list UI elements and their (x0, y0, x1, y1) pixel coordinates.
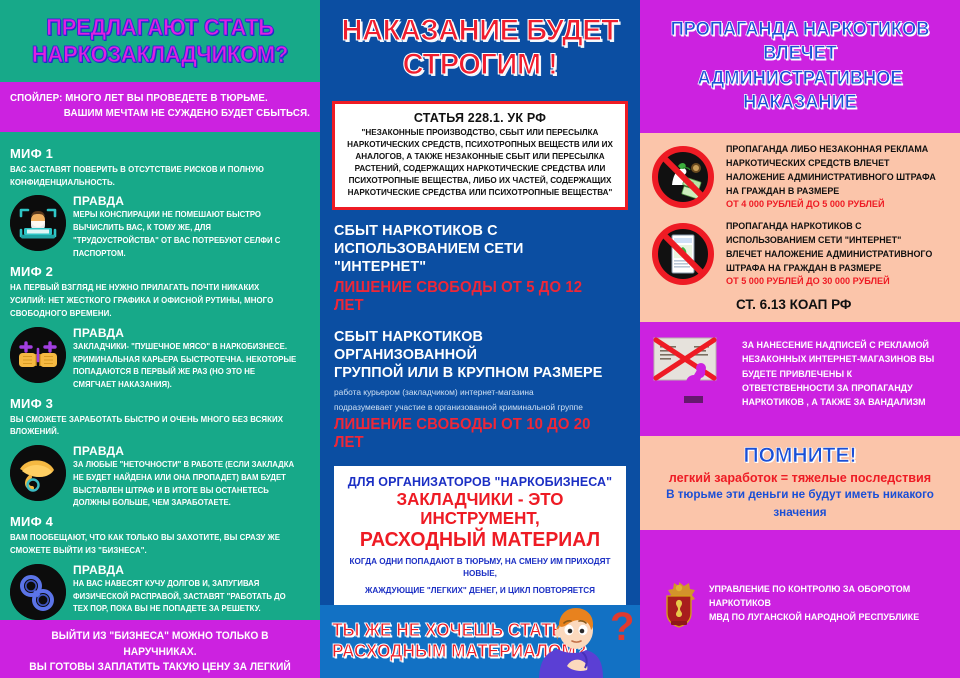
no-drug-advertising-icon (650, 144, 716, 210)
truth-label-4: ПРАВДА (73, 563, 310, 577)
admin-1-line3: НАЛОЖЕНИЕ АДМИНИСТРАТИВНОГО ШТРАФА (726, 171, 939, 185)
remember-section: ПОМНИТЕ! легкий заработок = тяжелые посл… (640, 436, 960, 530)
penalty-2-note2: подразумевает участие в организованной к… (334, 401, 626, 414)
left-footer-banner: ВЫЙТИ ИЗ "БИЗНЕСА" МОЖНО ТОЛЬКО В НАРУЧН… (0, 620, 320, 678)
myth-text-2: НА ПЕРВЫЙ ВЗГЛЯД НЕ НУЖНО ПРИЛАГАТЬ ПОЧТ… (10, 281, 295, 320)
admin-item-2: ПРОПАГАНДА НАРКОТИКОВ С ИСПОЛЬЗОВАНИЕМ С… (650, 220, 948, 287)
admin-2-line2: ИСПОЛЬЗОВАНИЕМ СЕТИ "ИНТЕРНЕТ" (726, 234, 939, 248)
right-footer-line1: УПРАВЛЕНИЕ ПО КОНТРОЛЮ ЗА ОБОРОТОМ НАРКО… (709, 583, 940, 611)
crossed-out-graffiti-icon (648, 330, 734, 430)
law-article-title: СТАТЬЯ 228.1. УК РФ (342, 111, 618, 125)
truth-row-4: ПРАВДА НА ВАС НАВЕСЯТ КУЧУ ДОЛГОВ И, ЗАП… (10, 562, 310, 620)
penalty-block-1: СБЫТ НАРКОТИКОВ С ИСПОЛЬЗОВАНИЕМ СЕТИ "И… (334, 222, 626, 315)
law-article-box: СТАТЬЯ 228.1. УК РФ "НЕЗАКОННЫЕ ПРОИЗВОД… (332, 101, 628, 210)
myth-block-2: МИФ 2 НА ПЕРВЫЙ ВЗГЛЯД НЕ НУЖНО ПРИЛАГАТ… (10, 264, 310, 391)
remember-line3: значения (655, 505, 946, 521)
organizers-box: ДЛЯ ОРГАНИЗАТОРОВ "НАРКОБИЗНЕСА" ЗАКЛАДЧ… (334, 466, 626, 605)
middle-panel: НАКАЗАНИЕ БУДЕТ СТРОГИМ ! СТАТЬЯ 228.1. … (320, 0, 640, 678)
penalty-1-line1: СБЫТ НАРКОТИКОВ С (334, 222, 614, 240)
admin-item-1: ПРОПАГАНДА ЛИБО НЕЗАКОННАЯ РЕКЛАМА НАРКО… (650, 143, 948, 210)
poster-root: ПРЕДЛАГАЮТ СТАТЬ НАРКОЗАКЛАДЧИКОМ? СПОЙЛ… (0, 0, 960, 678)
middle-heading: НАКАЗАНИЕ БУДЕТ СТРОГИМ ! (320, 0, 640, 91)
admin-2-line3: ВЛЕЧЕТ НАЛОЖЕНИЕ АДМИНИСТРАТИВНОГО (726, 248, 939, 262)
truth-row-1: ПРАВДА МЕРЫ КОНСПИРАЦИИ НЕ ПОМЕШАЮТ БЫСТ… (10, 193, 310, 260)
admin-2-line1: ПРОПАГАНДА НАРКОТИКОВ С (726, 220, 939, 234)
admin-2-line4: ШТРАФА НА ГРАЖДАН В РАЗМЕРЕ (726, 262, 939, 276)
spoiler-line1: СПОЙЛЕР: МНОГО ЛЕТ ВЫ ПРОВЕДЕТЕ В ТЮРЬМЕ… (10, 91, 289, 106)
empty-hand-coin-icon (10, 445, 66, 501)
admin-article-reference: СТ. 6.13 КОАП РФ (650, 297, 948, 312)
right-heading: ПРОПАГАНДА НАРКОТИКОВ ВЛЕЧЕТ АДМИНИСТРАТ… (640, 0, 960, 133)
truth-col-1: ПРАВДА МЕРЫ КОНСПИРАЦИИ НЕ ПОМЕШАЮТ БЫСТ… (73, 193, 310, 260)
right-heading-line3: АДМИНИСТРАТИВНОЕ (656, 67, 944, 91)
truth-text-4: НА ВАС НАВЕСЯТ КУЧУ ДОЛГОВ И, ЗАПУГИВАЯ … (73, 578, 298, 616)
penalty-block-2: СБЫТ НАРКОТИКОВ ОРГАНИЗОВАННОЙ ГРУППОЙ И… (334, 328, 626, 452)
left-heading: ПРЕДЛАГАЮТ СТАТЬ НАРКОЗАКЛАДЧИКОМ? (0, 0, 320, 82)
myth-title-2: МИФ 2 (10, 264, 310, 279)
right-panel: ПРОПАГАНДА НАРКОТИКОВ ВЛЕЧЕТ АДМИНИСТРАТ… (640, 0, 960, 678)
handcuffs-icon (10, 564, 66, 620)
admin-penalties-section: ПРОПАГАНДА ЛИБО НЕЗАКОННАЯ РЕКЛАМА НАРКО… (640, 133, 960, 322)
admin-text-2: ПРОПАГАНДА НАРКОТИКОВ С ИСПОЛЬЗОВАНИЕМ С… (726, 220, 948, 287)
thinking-boy-illustration: ? (534, 600, 634, 678)
truth-label-2: ПРАВДА (73, 326, 310, 340)
truth-text-2: ЗАКЛАДЧИКИ- "ПУШЕЧНОЕ МЯСО" В НАРКОБИЗНЕ… (73, 341, 298, 392)
right-footer-line2: МВД ПО ЛУГАНСКОЙ НАРОДНОЙ РЕСПУБЛИКЕ (709, 611, 940, 625)
right-heading-line2: ВЛЕЧЕТ (656, 42, 944, 66)
truth-label-1: ПРАВДА (73, 194, 310, 208)
myth-title-4: МИФ 4 (10, 514, 310, 529)
penalty-1-line2: ИСПОЛЬЗОВАНИЕМ СЕТИ "ИНТЕРНЕТ" (334, 240, 614, 277)
middle-heading-line1: НАКАЗАНИЕ БУДЕТ (331, 14, 630, 48)
organizers-line1: ДЛЯ ОРГАНИЗАТОРОВ "НАРКОБИЗНЕСА" (348, 474, 613, 489)
penalty-2-note1: работа курьером (закладчиком) интернет-м… (334, 386, 626, 399)
admin-2-amount: ОТ 5 000 РУБЛЕЙ ДО 30 000 РУБЛЕЙ (726, 276, 939, 287)
left-heading-line2: НАРКОЗАКЛАДЧИКОМ? (16, 41, 305, 68)
truth-label-3: ПРАВДА (73, 444, 310, 458)
organizers-note2: ЖАЖДУЮЩИЕ "ЛЕГКИХ" ДЕНЕГ, И ЦИКЛ ПОВТОРЯ… (348, 584, 613, 596)
remember-title: ПОМНИТЕ! (650, 444, 950, 468)
admin-1-line2: НАРКОТИЧЕСКИХ СРЕДСТВ ВЛЕЧЕТ (726, 157, 939, 171)
admin-1-line1: ПРОПАГАНДА ЛИБО НЕЗАКОННАЯ РЕКЛАМА (726, 143, 939, 157)
myth-title-1: МИФ 1 (10, 146, 310, 161)
mvd-emblem-icon (658, 579, 700, 629)
myth-title-3: МИФ 3 (10, 396, 310, 411)
penalty-1-term: ЛИШЕНИЕ СВОБОДЫ ОТ 5 ДО 12 ЛЕТ (334, 279, 614, 315)
right-heading-line4: НАКАЗАНИЕ (656, 91, 944, 115)
admin-1-amount: ОТ 4 000 РУБЛЕЙ ДО 5 000 РУБЛЕЙ (726, 199, 939, 210)
right-footer-text: УПРАВЛЕНИЕ ПО КОНТРОЛЮ ЗА ОБОРОТОМ НАРКО… (709, 583, 950, 625)
myth-block-1: МИФ 1 ВАС ЗАСТАВЯТ ПОВЕРИТЬ В ОТСУТСТВИЕ… (10, 146, 310, 261)
middle-penalties: СБЫТ НАРКОТИКОВ С ИСПОЛЬЗОВАНИЕМ СЕТИ "И… (320, 210, 640, 605)
remember-line2: В тюрьме эти деньги не будут иметь никак… (655, 487, 946, 503)
myth-text-1: ВАС ЗАСТАВЯТ ПОВЕРИТЬ В ОТСУТСТВИЕ РИСКО… (10, 163, 295, 189)
remember-line1: легкий заработок = тяжелые последствия (655, 470, 946, 485)
admin-text-1: ПРОПАГАНДА ЛИБО НЕЗАКОННАЯ РЕКЛАМА НАРКО… (726, 143, 948, 210)
no-internet-drug-ad-icon (650, 221, 716, 287)
myth-block-4: МИФ 4 ВАМ ПООБЕЩАЮТ, ЧТО КАК ТОЛЬКО ВЫ З… (10, 514, 310, 620)
svg-text:?: ? (610, 605, 634, 649)
truth-row-2: ПРАВДА ЗАКЛАДЧИКИ- "ПУШЕЧНОЕ МЯСО" В НАР… (10, 325, 310, 392)
hacker-laptop-icon (10, 195, 66, 251)
right-footer: УПРАВЛЕНИЕ ПО КОНТРОЛЮ ЗА ОБОРОТОМ НАРКО… (640, 530, 960, 678)
organizers-line3: РАСХОДНЫЙ МАТЕРИАЛ (346, 529, 614, 551)
left-panel: ПРЕДЛАГАЮТ СТАТЬ НАРКОЗАКЛАДЧИКОМ? СПОЙЛ… (0, 0, 320, 678)
right-heading-line1: ПРОПАГАНДА НАРКОТИКОВ (656, 18, 944, 42)
myth-block-3: МИФ 3 ВЫ СМОЖЕТЕ ЗАРАБОТАТЬ БЫСТРО И ОЧЕ… (10, 396, 310, 511)
left-heading-line1: ПРЕДЛАГАЮТ СТАТЬ (16, 14, 305, 41)
myth-text-4: ВАМ ПООБЕЩАЮТ, ЧТО КАК ТОЛЬКО ВЫ ЗАХОТИТ… (10, 531, 295, 557)
truth-col-4: ПРАВДА НА ВАС НАВЕСЯТ КУЧУ ДОЛГОВ И, ЗАП… (73, 562, 310, 616)
fists-clash-icon (10, 327, 66, 383)
myth-text-3: ВЫ СМОЖЕТЕ ЗАРАБОТАТЬ БЫСТРО И ОЧЕНЬ МНО… (10, 413, 295, 439)
spoiler-banner: СПОЙЛЕР: МНОГО ЛЕТ ВЫ ПРОВЕДЕТЕ В ТЮРЬМЕ… (0, 82, 320, 131)
truth-col-3: ПРАВДА ЗА ЛЮБЫЕ "НЕТОЧНОСТИ" В РАБОТЕ (Е… (73, 443, 310, 510)
truth-row-3: ПРАВДА ЗА ЛЮБЫЕ "НЕТОЧНОСТИ" В РАБОТЕ (Е… (10, 443, 310, 510)
penalty-2-line2: ГРУППОЙ ИЛИ В КРУПНОМ РАЗМЕРЕ (334, 364, 614, 382)
truth-text-3: ЗА ЛЮБЫЕ "НЕТОЧНОСТИ" В РАБОТЕ (ЕСЛИ ЗАК… (73, 459, 298, 510)
law-article-text: "НЕЗАКОННЫЕ ПРОИЗВОДСТВО, СБЫТ ИЛИ ПЕРЕС… (346, 127, 614, 199)
myth-list: МИФ 1 ВАС ЗАСТАВЯТ ПОВЕРИТЬ В ОТСУТСТВИЕ… (0, 132, 320, 620)
truth-text-1: МЕРЫ КОНСПИРАЦИИ НЕ ПОМЕШАЮТ БЫСТРО ВЫЧИ… (73, 209, 298, 260)
penalty-2-line1: СБЫТ НАРКОТИКОВ ОРГАНИЗОВАННОЙ (334, 328, 614, 365)
left-footer-line1: ВЫЙТИ ИЗ "БИЗНЕСА" МОЖНО ТОЛЬКО В НАРУЧН… (16, 629, 305, 660)
organizers-line2: ЗАКЛАДЧИКИ - ЭТО ИНСТРУМЕНТ, (346, 490, 614, 529)
middle-heading-line2: СТРОГИМ ! (331, 48, 630, 82)
left-footer-line2: ВЫ ГОТОВЫ ЗАПЛАТИТЬ ТАКУЮ ЦЕНУ ЗА ЛЕГКИЙ… (16, 660, 305, 678)
spoiler-line2: ВАШИМ МЕЧТАМ НЕ СУЖДЕНО БУДЕТ СБЫТЬСЯ. (31, 106, 310, 121)
truth-col-2: ПРАВДА ЗАКЛАДЧИКИ- "ПУШЕЧНОЕ МЯСО" В НАР… (73, 325, 310, 392)
middle-footer-banner: ТЫ ЖЕ НЕ ХОЧЕШЬ СТАТЬ РАСХОДНЫМ МАТЕРИАЛ… (320, 605, 640, 678)
organizers-note1: КОГДА ОДНИ ПОПАДАЮТ В ТЮРЬМУ, НА СМЕНУ И… (348, 555, 613, 580)
admin-1-line4: НА ГРАЖДАН В РАЗМЕРЕ (726, 185, 939, 199)
penalty-2-term: ЛИШЕНИЕ СВОБОДЫ ОТ 10 ДО 20 ЛЕТ (334, 416, 614, 452)
vandalism-section: ЗА НАНЕСЕНИЕ НАДПИСЕЙ С РЕКЛАМОЙ НЕЗАКОН… (640, 322, 960, 436)
vandalism-text: ЗА НАНЕСЕНИЕ НАДПИСЕЙ С РЕКЛАМОЙ НЕЗАКОН… (742, 330, 940, 409)
